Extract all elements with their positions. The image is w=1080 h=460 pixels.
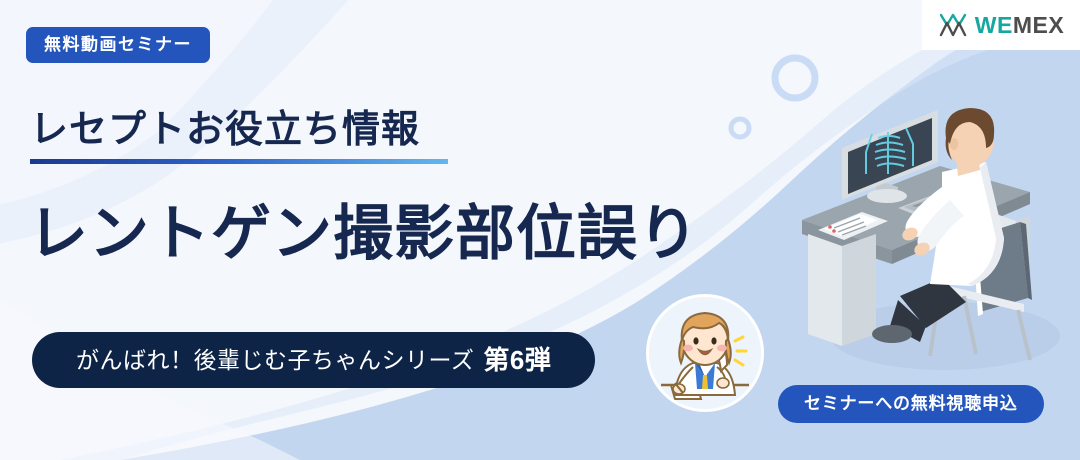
wemex-mark-icon (938, 11, 968, 39)
doctor-viewing-xray-illustration (780, 88, 1080, 378)
subtitle-block: レセプトお役立ち情報 (30, 110, 448, 164)
subtitle-underline (30, 159, 448, 164)
subtitle-text: レセプトお役立ち情報 (30, 110, 448, 152)
series-label: がんばれ！後輩じむ子ちゃんシリーズ (76, 349, 474, 372)
seminar-banner: WEMEX 無料動画セミナー レセプトお役立ち情報 レントゲン撮影部位誤り がん… (0, 0, 1080, 460)
series-pill: がんばれ！後輩じむ子ちゃんシリーズ 第6弾 (32, 332, 595, 388)
logo-text-we: WE (975, 12, 1013, 38)
jimuko-character-avatar (646, 294, 764, 412)
series-volume: 第6弾 (483, 347, 551, 373)
page-title: レントゲン撮影部位誤り (28, 202, 699, 267)
seminar-signup-button[interactable]: セミナーへの無料視聴申込 (778, 385, 1044, 423)
logo-text-mex: MEX (1013, 12, 1064, 38)
wemex-logo[interactable]: WEMEX (922, 0, 1080, 50)
free-video-seminar-badge: 無料動画セミナー (26, 27, 210, 63)
wemex-logo-text: WEMEX (975, 14, 1064, 37)
